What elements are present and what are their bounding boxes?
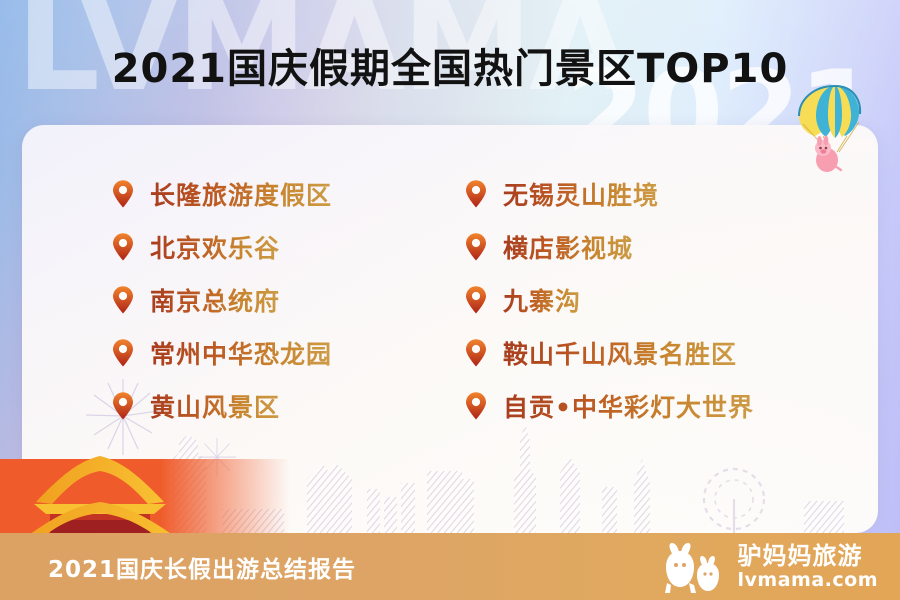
map-pin-icon <box>112 233 134 261</box>
map-pin-icon <box>112 286 134 314</box>
list-item[interactable]: 鞍山千山风景名胜区 <box>465 326 818 379</box>
list-item-label: 常州中华恐龙园 <box>150 335 332 371</box>
list-item[interactable]: 横店影视城 <box>465 220 818 273</box>
map-pin-icon <box>465 286 487 314</box>
list-item-label: 自贡•中华彩灯大世界 <box>503 388 754 424</box>
map-pin-icon <box>112 339 134 367</box>
list-item[interactable]: 无锡灵山胜境 <box>465 167 818 220</box>
brand-name-cn: 驴妈妈旅游 <box>738 544 878 568</box>
list-item[interactable]: 南京总统府 <box>112 273 465 326</box>
infographic-canvas: LVMAMA 2021 2021国庆假期全国热门景区TOP10 <box>0 0 900 600</box>
brand-domain: lvmama.com <box>738 571 878 590</box>
map-pin-icon <box>465 339 487 367</box>
list-item[interactable]: 长隆旅游度假区 <box>112 167 465 220</box>
parachute-mascot-icon <box>793 74 877 174</box>
list-item-label: 九寨沟 <box>503 282 581 318</box>
map-pin-icon <box>465 392 487 420</box>
list-item[interactable]: 北京欢乐谷 <box>112 220 465 273</box>
footer-bar: 2021国庆长假出游总结报告 <box>0 533 900 600</box>
list-item[interactable]: 自贡•中华彩灯大世界 <box>465 379 818 432</box>
list-item-label: 鞍山千山风景名胜区 <box>503 335 737 371</box>
list-item-label: 长隆旅游度假区 <box>150 176 332 212</box>
map-pin-icon <box>465 233 487 261</box>
list-item-label: 黄山风景区 <box>150 388 280 424</box>
list-item-label: 北京欢乐谷 <box>150 229 280 265</box>
list-item-label: 南京总统府 <box>150 282 280 318</box>
list-item[interactable]: 黄山风景区 <box>112 379 465 432</box>
list-item-label: 无锡灵山胜境 <box>503 176 659 212</box>
page-title: 2021国庆假期全国热门景区TOP10 <box>0 36 900 94</box>
report-title: 2021国庆长假出游总结报告 <box>48 550 356 584</box>
list-item[interactable]: 常州中华恐龙园 <box>112 326 465 379</box>
brand-logo[interactable]: 驴妈妈旅游 lvmama.com <box>655 541 878 593</box>
donkey-logo-icon <box>655 541 729 593</box>
map-pin-icon <box>112 392 134 420</box>
list-item-label: 横店影视城 <box>503 229 633 265</box>
map-pin-icon <box>465 180 487 208</box>
map-pin-icon <box>112 180 134 208</box>
list-item[interactable]: 九寨沟 <box>465 273 818 326</box>
top10-list: 长隆旅游度假区 无锡灵山胜境 北京欢乐谷 <box>22 167 878 432</box>
